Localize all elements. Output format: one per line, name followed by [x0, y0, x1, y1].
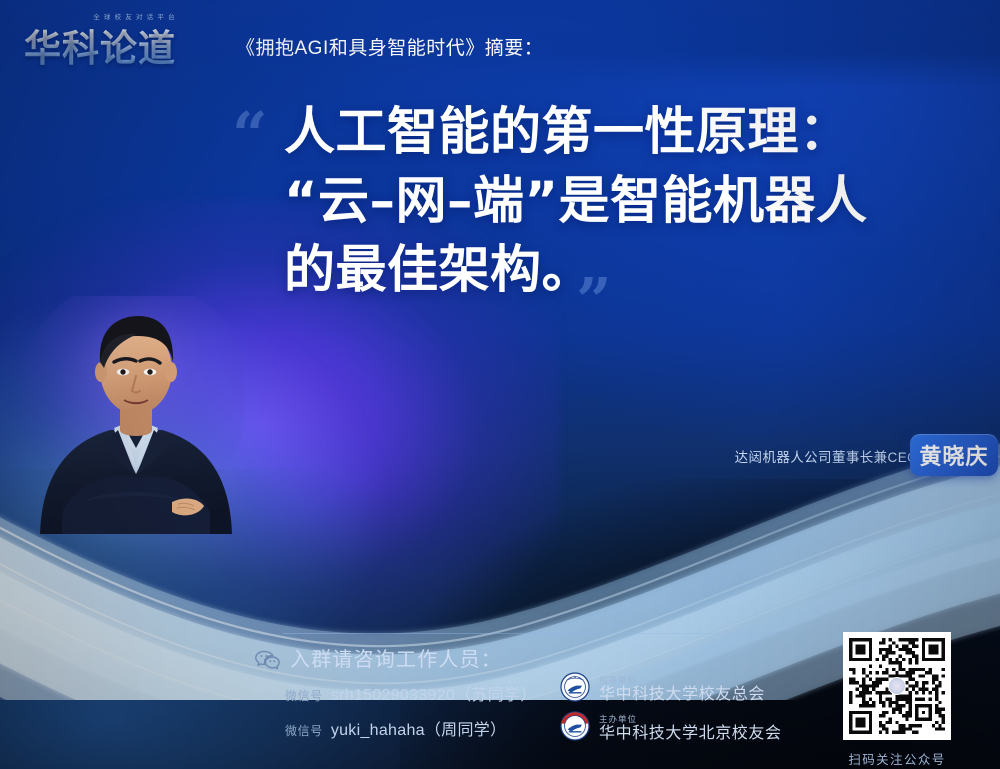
join-instruction: 入群请咨询工作人员： [290, 643, 502, 672]
organization-row-guidance: 指导单位 华中科技大学校友总会 [560, 672, 765, 707]
wechat-icon [255, 650, 281, 675]
poster-root: 全球校友对话平台 华科论道 《拥抱AGI和具身智能时代》摘要： [0, 0, 1000, 769]
organization-kind-host: 主办单位 [599, 715, 782, 724]
footer: 入群请咨询工作人员： 微信号 srh15029033920（苏同学） 微信号 y… [255, 645, 1000, 755]
contact-row-1: 微信号 srh15029033920（苏同学） [285, 681, 537, 705]
organization-row-host: 主办单位 华中科技大学北京校友会 [560, 711, 782, 746]
contact-label-2: 微信号 [285, 722, 323, 739]
qr-center-logo [888, 677, 906, 695]
qr-code[interactable] [843, 632, 951, 740]
organization-kind-guidance: 指导单位 [599, 676, 765, 685]
contact-row-2: 微信号 yuki_hahaha（周同学） [285, 716, 506, 740]
contact-label-1: 微信号 [285, 687, 323, 704]
contact-value-1[interactable]: srh15029033920（苏同学） [331, 681, 537, 705]
qr-section: 扫码关注公众号 [833, 632, 961, 768]
contact-value-2[interactable]: yuki_hahaha（周同学） [331, 716, 507, 740]
qr-caption: 扫码关注公众号 [833, 749, 961, 768]
organization-name-host: 华中科技大学北京校友会 [599, 726, 782, 742]
footer-divider [283, 633, 790, 634]
hust-alumni-badge-icon [560, 672, 590, 707]
organization-name-guidance: 华中科技大学校友总会 [599, 687, 765, 703]
hust-beijing-alumni-badge-icon [560, 711, 590, 746]
